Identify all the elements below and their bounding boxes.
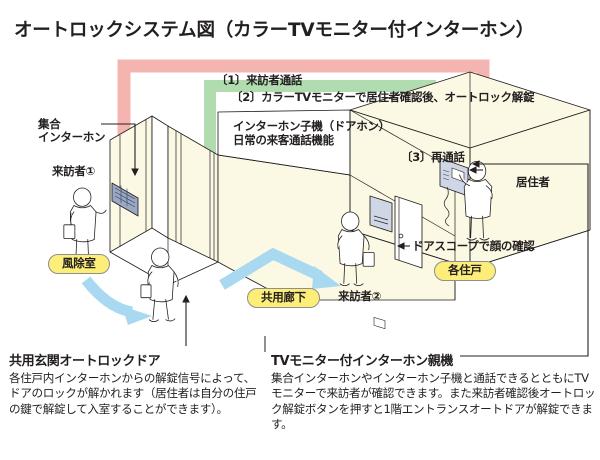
caption-tv-monitor-intercom: TVモニター付インターホン親機 集合インターホンやインターホン子機と通話できると… [271, 350, 596, 433]
entrance-intercom-label-line1: 集合 [38, 118, 105, 131]
doorphone-label-line2: 日常の来客通話機能 [233, 134, 390, 148]
caption-tv-monitor-intercom-heading: TVモニター付インターホン親機 [271, 350, 596, 369]
pill-vestibule: 風除室 [48, 254, 110, 274]
pill-corridor: 共用廊下 [247, 288, 320, 308]
entrance-intercom-label: 集合 インターホン [38, 118, 105, 145]
visitor-1-label: 来訪者① [52, 165, 95, 179]
doorphone-label: インターホン子機（ドアホン） 日常の来客通話機能 [233, 120, 390, 147]
caption-tv-monitor-intercom-body: 集合インターホンやインターホン子機と通話できるとともにTVモニターで来訪者が確認… [271, 371, 596, 433]
step-1-label: 〔1〕来訪者通話 [216, 72, 302, 88]
caption-autolock-door: 共用玄関オートロックドア 各住戸内インターホンからの解錠信号によって、ドアのロッ… [9, 350, 265, 417]
caption-autolock-door-heading: 共用玄関オートロックドア [9, 350, 265, 369]
visitor-walking-figure-icon [141, 248, 178, 322]
resident-label: 居住者 [516, 176, 550, 190]
caption-autolock-door-body: 各住戸内インターホンからの解錠信号によって、ドアのロックが解かれます（居住者は自… [9, 371, 265, 417]
pill-dwelling: 各住戸 [434, 261, 496, 281]
diagram-canvas: .ln{fill:none;stroke:#231f20;stroke-widt… [0, 0, 600, 460]
visitor-2-label: 来訪者② [338, 290, 381, 304]
dwelling-entry-door [395, 196, 422, 268]
step-3-label: 〔3〕再通話 [401, 149, 465, 165]
doorphone-label-line1: インターホン子機（ドアホン） [233, 120, 390, 134]
visitor-1-figure-icon [64, 188, 106, 262]
page-title: オートロックシステム図（カラーTVモニター付インターホン） [14, 16, 534, 42]
doorscope-label: ドアスコープで顔の確認 [412, 240, 535, 254]
step-2-label: 〔2〕カラーTVモニターで居住者確認後、オートロック解錠 [231, 89, 534, 105]
entrance-intercom-label-line2: インターホン [38, 131, 105, 144]
